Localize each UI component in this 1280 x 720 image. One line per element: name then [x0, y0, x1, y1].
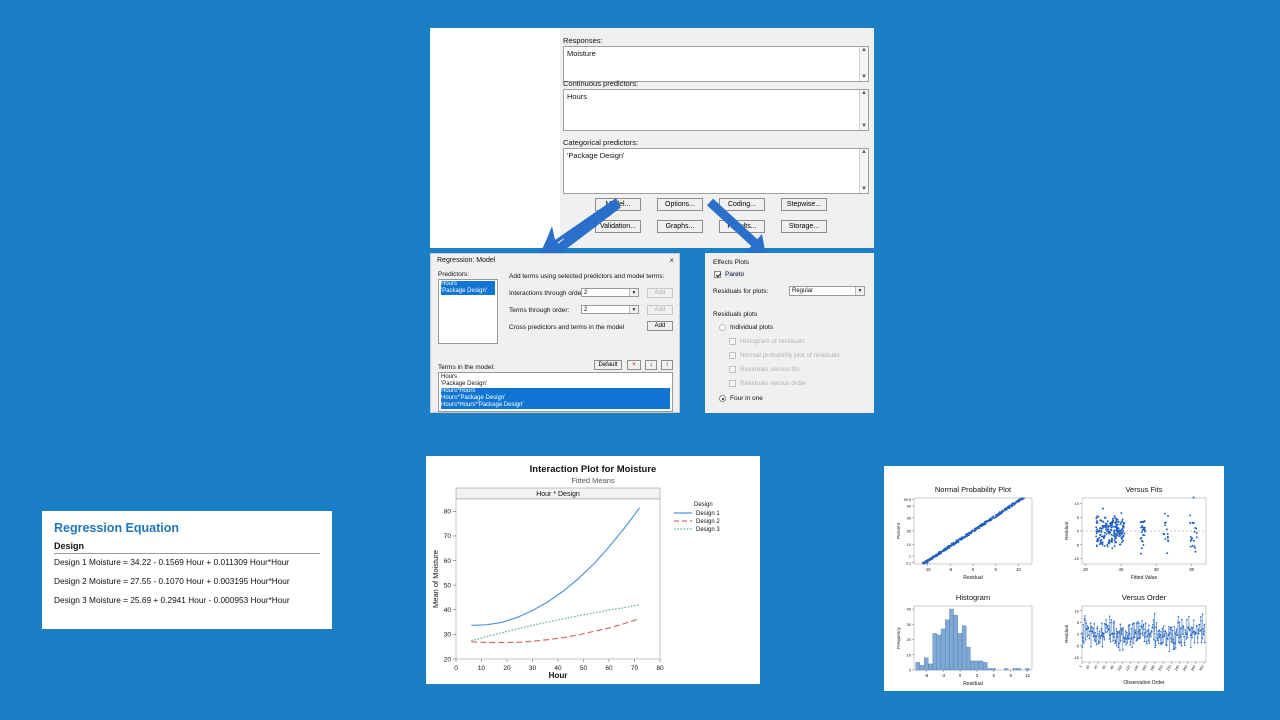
- scroll-up-icon[interactable]: ▲: [861, 47, 867, 54]
- term-item-hours-hours[interactable]: Hours*Hours: [441, 388, 670, 395]
- chevron-down-icon[interactable]: ▼: [855, 287, 864, 295]
- svg-text:20: 20: [444, 656, 452, 663]
- svg-text:100: 100: [1117, 665, 1123, 672]
- add-cross-button[interactable]: Add: [647, 321, 673, 331]
- svg-text:Residual: Residual: [963, 575, 982, 581]
- terms-in-model-list[interactable]: Hours 'Package Design' Hours*Hours Hours…: [438, 372, 673, 412]
- svg-text:-5: -5: [948, 567, 952, 572]
- svg-text:120: 120: [1125, 665, 1131, 672]
- svg-text:99.9: 99.9: [904, 498, 911, 502]
- checkbox-icon[interactable]: [729, 338, 736, 345]
- svg-text:300: 300: [1198, 665, 1204, 672]
- svg-text:50: 50: [907, 530, 911, 534]
- svg-text:1: 1: [1078, 665, 1082, 669]
- svg-text:70: 70: [631, 665, 639, 672]
- svg-text:80: 80: [656, 665, 664, 672]
- svg-text:1: 1: [909, 555, 911, 559]
- pareto-checkbox-row[interactable]: Pareto: [714, 271, 744, 278]
- predictors-item-package-design[interactable]: 'Package Design': [441, 288, 495, 295]
- svg-text:60: 60: [605, 665, 613, 672]
- checkbox-icon[interactable]: [729, 352, 736, 359]
- interactions-order-select[interactable]: 2 ▼: [581, 288, 639, 297]
- svg-text:10: 10: [907, 652, 912, 657]
- svg-text:-6: -6: [924, 673, 928, 678]
- svg-text:180: 180: [1149, 665, 1155, 672]
- storage-button[interactable]: Storage...: [781, 220, 827, 233]
- svg-text:80: 80: [1189, 567, 1194, 572]
- radio-icon[interactable]: [719, 395, 726, 402]
- svg-text:Fitted Value: Fitted Value: [1131, 575, 1158, 581]
- scroll-up-icon[interactable]: ▲: [861, 149, 867, 156]
- regression-equation-line-1: Design 1 Moisture = 34.22 - 0.1569 Hour …: [54, 557, 320, 567]
- svg-text:0: 0: [454, 665, 458, 672]
- predictors-list[interactable]: Hours 'Package Design': [438, 279, 498, 344]
- add-interactions-button[interactable]: Add: [647, 288, 673, 298]
- scroll-up-icon[interactable]: ▲: [861, 90, 867, 97]
- svg-text:40: 40: [1093, 665, 1098, 670]
- versus-order-plot: Versus Order-10-505101204060801001201401…: [1064, 593, 1206, 686]
- versus-fits-plot: Versus Fits20406080-10-50510Fitted Value…: [1064, 485, 1206, 581]
- svg-text:10: 10: [1075, 608, 1080, 613]
- residual-plots-card: Normal Probability Plot-10-505100.111050…: [884, 466, 1224, 691]
- svg-text:40: 40: [444, 607, 452, 614]
- svg-text:90: 90: [907, 516, 911, 520]
- model-dialog: Regression: Model × Predictors: Hours 'P…: [430, 253, 680, 413]
- regression-equation-title: Regression Equation: [54, 521, 320, 535]
- regression-equation-line-3: Design 3 Moisture = 25.69 + 0.2941 Hour …: [54, 595, 320, 605]
- chevron-down-icon[interactable]: ▼: [629, 306, 638, 313]
- regression-equation-line-2: Design 2 Moisture = 27.55 - 0.1070 Hour …: [54, 576, 320, 586]
- svg-text:9: 9: [1009, 673, 1012, 678]
- checkbox-icon[interactable]: [714, 271, 721, 278]
- svg-text:Histogram: Histogram: [956, 593, 990, 602]
- svg-text:0: 0: [959, 673, 962, 678]
- checkbox-icon[interactable]: [729, 366, 736, 373]
- residuals-for-plots-select[interactable]: Regular ▼: [789, 286, 865, 296]
- svg-text:0: 0: [972, 567, 975, 572]
- svg-text:10: 10: [907, 543, 911, 547]
- four-in-one-label: Four in one: [730, 395, 763, 402]
- responses-scrollbar[interactable]: ▲ ▼: [859, 47, 868, 81]
- interaction-plot-card: Interaction Plot for Moisture Fitted Mea…: [426, 456, 760, 684]
- svg-text:30: 30: [444, 632, 452, 639]
- residuals-versus-fits-label: Residuals versus fits: [740, 366, 800, 373]
- svg-text:Residual: Residual: [1064, 522, 1069, 540]
- predictors-label: Predictors:: [438, 271, 469, 278]
- terms-order-label: Terms through order:: [509, 307, 569, 314]
- continuous-predictors-label: Continuous predictors:: [563, 79, 869, 88]
- svg-text:Normal Probability Plot: Normal Probability Plot: [935, 485, 1012, 494]
- regression-equation-card: Regression Equation Design Design 1 Mois…: [42, 511, 332, 629]
- normal-probability-plot-row[interactable]: Normal probability plot of residuals: [729, 352, 840, 359]
- svg-text:0: 0: [909, 668, 912, 673]
- scroll-down-icon[interactable]: ▼: [861, 186, 867, 193]
- coding-button[interactable]: Coding...: [719, 198, 765, 211]
- move-up-button[interactable]: ↑: [661, 360, 673, 370]
- interaction-plot-svg: Interaction Plot for Moisture Fitted Mea…: [426, 456, 760, 684]
- svg-text:20: 20: [1085, 665, 1090, 670]
- categorical-predictors-label: Categorical predictors:: [563, 138, 869, 147]
- graphs-button[interactable]: Graphs...: [657, 220, 703, 233]
- svg-text:-5: -5: [1075, 542, 1079, 547]
- svg-text:70: 70: [444, 533, 452, 540]
- effects-plots-heading: Effects Plots: [713, 259, 749, 266]
- responses-listbox[interactable]: Moisture ▲ ▼: [563, 46, 869, 82]
- interaction-plot-legend: DesignDesign 1Design 2Design 3: [674, 502, 720, 533]
- stepwise-button[interactable]: Stepwise...: [781, 198, 827, 211]
- svg-text:80: 80: [1110, 665, 1115, 670]
- categorical-predictors-group: Categorical predictors: 'Package Design'…: [563, 138, 869, 194]
- scroll-down-icon[interactable]: ▼: [861, 123, 867, 130]
- terms-in-model-label: Terms in the model:: [438, 364, 495, 371]
- continuous-predictors-listbox[interactable]: Hours ▲ ▼: [563, 89, 869, 131]
- regression-dialog: Responses: Moisture ▲ ▼ Continuous predi…: [430, 28, 874, 248]
- regression-dialog-body: Responses: Moisture ▲ ▼ Continuous predi…: [560, 28, 874, 248]
- svg-text:200: 200: [1158, 665, 1164, 672]
- interaction-plot-title: Interaction Plot for Moisture: [530, 464, 657, 475]
- continuous-predictors-group: Continuous predictors: Hours ▲ ▼: [563, 79, 869, 131]
- checkbox-icon[interactable]: [729, 380, 736, 387]
- graphs-dialog: Effects Plots Pareto Residuals for plots…: [705, 253, 874, 413]
- residuals-for-plots-label: Residuals for plots:: [713, 288, 768, 295]
- residual-plots-svg: Normal Probability Plot-10-505100.111050…: [884, 466, 1224, 691]
- dialog-button-row-2: Validation... Graphs... Results... Stora…: [595, 220, 827, 233]
- interaction-plot-ylabel: Mean of Moisture: [431, 550, 440, 608]
- svg-text:Design 2: Design 2: [696, 519, 720, 525]
- residuals-versus-order-label: Residuals versus order: [740, 380, 806, 387]
- svg-text:10: 10: [1075, 501, 1080, 506]
- svg-text:Frequency: Frequency: [896, 626, 901, 648]
- four-in-one-radio-row[interactable]: Four in one: [719, 395, 763, 402]
- svg-text:140: 140: [1133, 665, 1139, 672]
- svg-text:Design 3: Design 3: [696, 527, 720, 533]
- residuals-plots-heading: Residuals plots: [713, 311, 757, 318]
- model-button[interactable]: Model...: [595, 198, 641, 211]
- interactions-order-label: Interactions through order:: [509, 290, 585, 297]
- svg-text:-10: -10: [1073, 556, 1080, 561]
- term-item-hours-package[interactable]: Hours*'Package Design': [441, 395, 670, 402]
- radio-icon[interactable]: [719, 324, 726, 331]
- svg-text:160: 160: [1141, 665, 1147, 672]
- svg-text:0.1: 0.1: [906, 561, 911, 565]
- add-terms-order-button[interactable]: Add: [647, 305, 673, 315]
- default-button[interactable]: Default: [594, 360, 622, 370]
- svg-text:60: 60: [1101, 665, 1106, 670]
- continuous-predictors-value: Hours: [567, 92, 865, 101]
- svg-text:30: 30: [907, 622, 912, 627]
- normal-probability-plot-label: Normal probability plot of residuals: [740, 352, 840, 359]
- svg-text:Versus Fits: Versus Fits: [1125, 485, 1162, 494]
- svg-text:5: 5: [1077, 515, 1080, 520]
- svg-text:-3: -3: [941, 673, 945, 678]
- svg-text:6: 6: [993, 673, 996, 678]
- dialog-button-row-1: Model... Options... Coding... Stepwise..…: [595, 198, 827, 211]
- svg-text:-10: -10: [925, 567, 932, 572]
- results-button[interactable]: Results...: [719, 220, 765, 233]
- terms-order-select[interactable]: 2 ▼: [581, 305, 639, 314]
- validation-button[interactable]: Validation...: [595, 220, 641, 233]
- svg-text:20: 20: [907, 637, 912, 642]
- chevron-down-icon[interactable]: ▼: [629, 289, 638, 296]
- close-icon[interactable]: ×: [669, 256, 674, 265]
- term-item-hours[interactable]: Hours: [441, 374, 670, 381]
- svg-text:5: 5: [1077, 620, 1080, 625]
- term-item-hours-hours-pkg[interactable]: Hours*Hours*'Package Design': [441, 402, 670, 409]
- histogram-of-residuals-label: Histogram of residuals: [740, 338, 805, 345]
- svg-text:260: 260: [1182, 665, 1188, 672]
- svg-text:50: 50: [444, 582, 452, 589]
- svg-text:Observation Order: Observation Order: [1123, 680, 1164, 686]
- svg-text:20: 20: [1083, 567, 1088, 572]
- individual-plots-radio-row[interactable]: Individual plots: [719, 324, 773, 331]
- individual-plots-label: Individual plots: [730, 324, 773, 331]
- residuals-for-plots-value: Regular: [792, 288, 813, 294]
- histogram-plot: Histogram-6-3036912010203040ResidualFreq…: [896, 593, 1032, 687]
- add-terms-label: Add terms using selected predictors and …: [509, 273, 664, 280]
- svg-text:40: 40: [907, 607, 912, 612]
- svg-text:60: 60: [444, 558, 452, 565]
- categorical-predictors-value: 'Package Design': [567, 151, 865, 160]
- svg-text:10: 10: [1016, 567, 1021, 572]
- svg-text:0: 0: [1077, 529, 1080, 534]
- svg-text:Residual: Residual: [1064, 625, 1069, 643]
- svg-text:20: 20: [503, 665, 511, 672]
- model-dialog-title: Regression: Model: [437, 257, 495, 264]
- responses-group: Responses: Moisture ▲ ▼: [563, 36, 869, 82]
- svg-text:3: 3: [976, 673, 979, 678]
- continuous-scrollbar[interactable]: ▲ ▼: [859, 90, 868, 130]
- responses-value: Moisture: [567, 49, 865, 58]
- interaction-plot-subtitle: Fitted Means: [571, 476, 615, 485]
- svg-text:280: 280: [1190, 665, 1196, 672]
- svg-text:240: 240: [1174, 665, 1180, 672]
- histogram-of-residuals-row[interactable]: Histogram of residuals: [729, 338, 805, 345]
- svg-text:30: 30: [529, 665, 537, 672]
- residuals-versus-fits-row[interactable]: Residuals versus fits: [729, 366, 800, 373]
- regression-equation-group-header: Design: [54, 541, 320, 554]
- categorical-scrollbar[interactable]: ▲ ▼: [859, 149, 868, 193]
- svg-text:10: 10: [478, 665, 486, 672]
- svg-text:0: 0: [1077, 632, 1080, 637]
- interaction-plot-panel-label: Hour * Design: [536, 491, 580, 498]
- pareto-label: Pareto: [725, 271, 744, 278]
- svg-text:-5: -5: [1075, 643, 1079, 648]
- svg-text:Design 1: Design 1: [696, 511, 720, 517]
- move-down-button[interactable]: ↓: [645, 360, 657, 370]
- svg-text:Percent: Percent: [896, 522, 901, 539]
- svg-text:Residual: Residual: [963, 681, 982, 687]
- cross-predictors-label: Cross predictors and terms in the model: [509, 324, 624, 331]
- svg-text:99: 99: [907, 505, 911, 509]
- delete-term-button[interactable]: ×: [627, 360, 641, 370]
- categorical-predictors-listbox[interactable]: 'Package Design' ▲ ▼: [563, 148, 869, 194]
- svg-text:-10: -10: [1073, 655, 1080, 660]
- svg-text:60: 60: [1154, 567, 1159, 572]
- term-item-package-design[interactable]: 'Package Design': [441, 381, 670, 388]
- residuals-versus-order-row[interactable]: Residuals versus order: [729, 380, 806, 387]
- responses-label: Responses:: [563, 36, 869, 45]
- predictors-item-hours[interactable]: Hours: [441, 281, 495, 288]
- interaction-plot-xlabel: Hour: [549, 671, 568, 680]
- residuals-for-plots-row: Residuals for plots:: [713, 288, 768, 295]
- svg-text:40: 40: [1119, 567, 1124, 572]
- svg-text:5: 5: [995, 567, 998, 572]
- options-button[interactable]: Options...: [657, 198, 703, 211]
- normal-probability-plot: Normal Probability Plot-10-505100.111050…: [896, 485, 1032, 581]
- terms-order-value: 2: [584, 307, 587, 313]
- interactions-order-value: 2: [584, 290, 587, 296]
- svg-text:80: 80: [444, 509, 452, 516]
- svg-text:220: 220: [1166, 665, 1172, 672]
- svg-text:Design: Design: [694, 502, 713, 508]
- svg-text:50: 50: [580, 665, 588, 672]
- svg-text:12: 12: [1025, 673, 1030, 678]
- svg-text:Versus Order: Versus Order: [1122, 593, 1167, 602]
